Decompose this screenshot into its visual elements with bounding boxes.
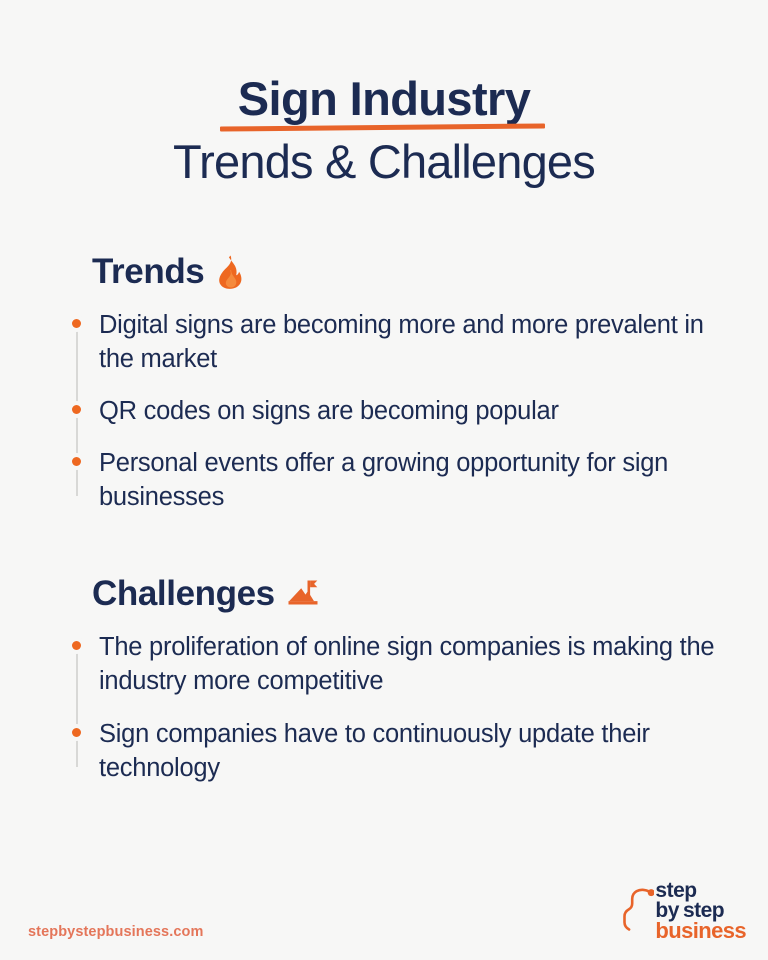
challenges-bullet-list: The proliferation of online sign compani… [56, 630, 722, 785]
section-challenges: Challenges The proliferation of online s… [56, 574, 722, 785]
list-item-text: Digital signs are becoming more and more… [99, 308, 722, 376]
list-item: QR codes on signs are becoming popular [56, 394, 722, 428]
flame-icon [216, 255, 244, 289]
section-challenges-header: Challenges [92, 574, 722, 614]
bullet-dot-icon [72, 457, 81, 466]
page-title: Sign Industry [238, 74, 531, 125]
page-subtitle: Trends & Challenges [0, 137, 768, 188]
content-area: Trends Digital signs are becoming more a… [0, 252, 768, 785]
logo-bracket-icon [620, 885, 654, 942]
list-item-text: QR codes on signs are becoming popular [99, 394, 559, 428]
logo-text-business: business [655, 921, 746, 942]
brand-logo[interactable]: step by step business [620, 881, 746, 942]
list-item-text: The proliferation of online sign compani… [99, 630, 722, 698]
bullet-dot-icon [72, 319, 81, 328]
list-item-text: Personal events offer a growing opportun… [99, 446, 722, 514]
section-trends: Trends Digital signs are becoming more a… [56, 252, 722, 515]
page-title-block: Sign Industry Trends & Challenges [0, 0, 768, 188]
list-item: Personal events offer a growing opportun… [56, 446, 722, 514]
section-trends-title: Trends [92, 252, 204, 292]
list-item-text: Sign companies have to continuously upda… [99, 717, 722, 785]
list-item: The proliferation of online sign compani… [56, 630, 722, 698]
list-item: Sign companies have to continuously upda… [56, 717, 722, 785]
bullet-dot-icon [72, 728, 81, 737]
list-item: Digital signs are becoming more and more… [56, 308, 722, 376]
logo-wordmark: step by step business [655, 881, 746, 942]
mountain-flag-icon [287, 579, 319, 609]
bullet-dot-icon [72, 641, 81, 650]
logo-row-1: step [655, 881, 746, 901]
logo-text-step-1: step [655, 881, 696, 901]
footer-website-url[interactable]: stepbystepbusiness.com [28, 924, 203, 940]
bullet-dot-icon [72, 405, 81, 414]
section-trends-header: Trends [92, 252, 722, 292]
section-challenges-title: Challenges [92, 574, 275, 614]
title-main-wrapper: Sign Industry [238, 74, 531, 125]
trends-bullet-list: Digital signs are becoming more and more… [56, 308, 722, 515]
